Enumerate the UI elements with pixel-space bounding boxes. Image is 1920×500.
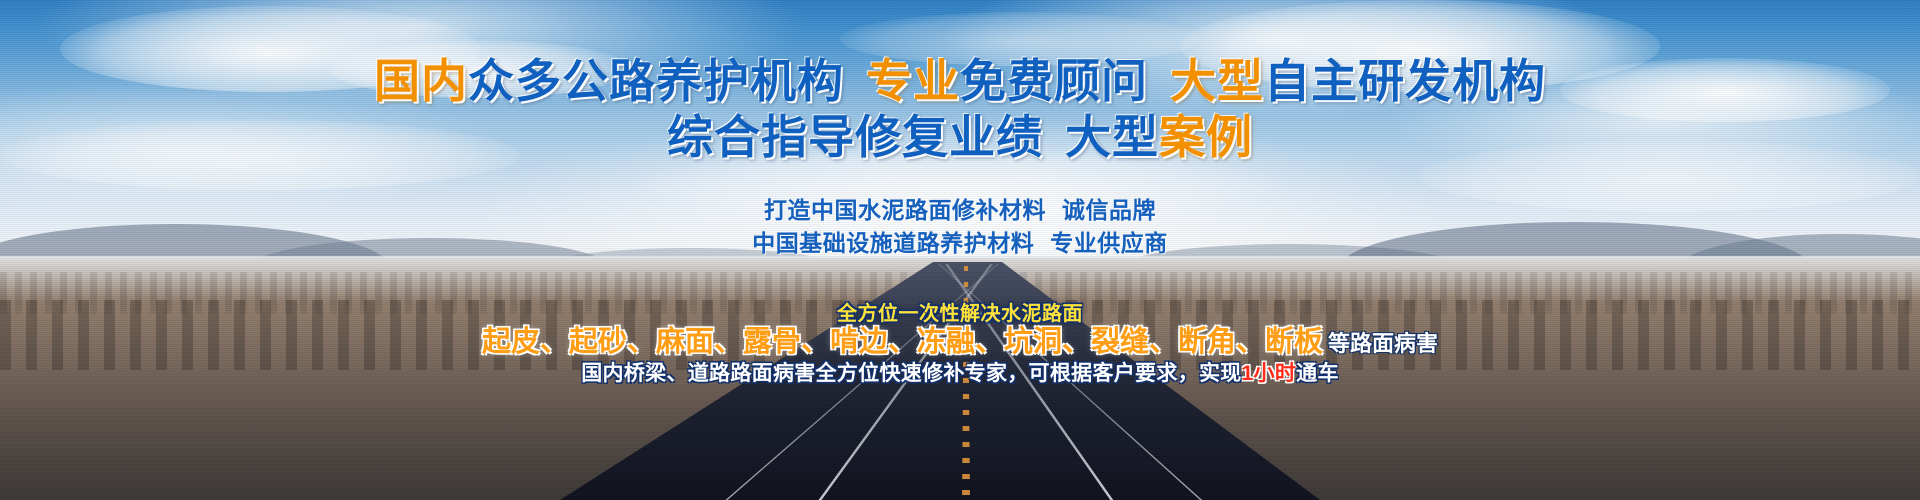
- headline-seg-professional: 专业: [866, 55, 960, 107]
- subheadline-line-2: 中国基础设施道路养护材料专业供应商: [0, 224, 1920, 258]
- sub1-main: 打造中国水泥路面修补材料: [764, 197, 1046, 223]
- damage-tail: 等路面病害: [1328, 331, 1438, 356]
- headline-seg-large: 大型: [1065, 111, 1159, 163]
- sub2-tag: 专业供应商: [1050, 230, 1168, 256]
- headline-seg-large-scale: 大型: [1170, 55, 1264, 107]
- banner-content: 国内众多公路养护机构专业免费顾问大型自主研发机构 综合指导修复业绩大型案例 打造…: [0, 0, 1920, 500]
- headline-seg-guidance-results: 综合指导修复业绩: [667, 111, 1043, 163]
- sub2-main: 中国基础设施道路养护材料: [752, 230, 1034, 256]
- bottom-suffix: 通车: [1296, 362, 1339, 385]
- headline-seg-case: 案例: [1159, 111, 1253, 163]
- sub1-tag: 诚信品牌: [1062, 197, 1156, 223]
- promotional-banner: 国内众多公路养护机构专业免费顾问大型自主研发机构 综合指导修复业绩大型案例 打造…: [0, 0, 1920, 500]
- promo-damage-line: 起皮、起砂、麻面、露骨、啃边、冻融、坑洞、裂缝、断角、断板等路面病害: [0, 318, 1920, 360]
- bottom-highlight-1hour: 1小时: [1242, 362, 1297, 385]
- headline-seg-guonei: 国内: [374, 55, 468, 107]
- promo-bottom-line: 国内桥梁、道路路面病害全方位快速修补专家，可根据客户要求，实现1小时通车: [0, 357, 1920, 387]
- headline-seg-rnd-institute: 自主研发机构: [1264, 55, 1546, 107]
- bottom-prefix: 国内桥梁、道路路面病害全方位快速修补专家，可根据客户要求，实现: [581, 362, 1241, 385]
- headline-seg-agencies: 众多公路养护机构: [468, 55, 844, 107]
- headline-line-2: 综合指导修复业绩大型案例: [0, 101, 1920, 167]
- headline-seg-free-consult: 免费顾问: [960, 55, 1148, 107]
- damage-list: 起皮、起砂、麻面、露骨、啃边、冻融、坑洞、裂缝、断角、断板: [482, 326, 1323, 358]
- subheadline-line-1: 打造中国水泥路面修补材料诚信品牌: [0, 191, 1920, 225]
